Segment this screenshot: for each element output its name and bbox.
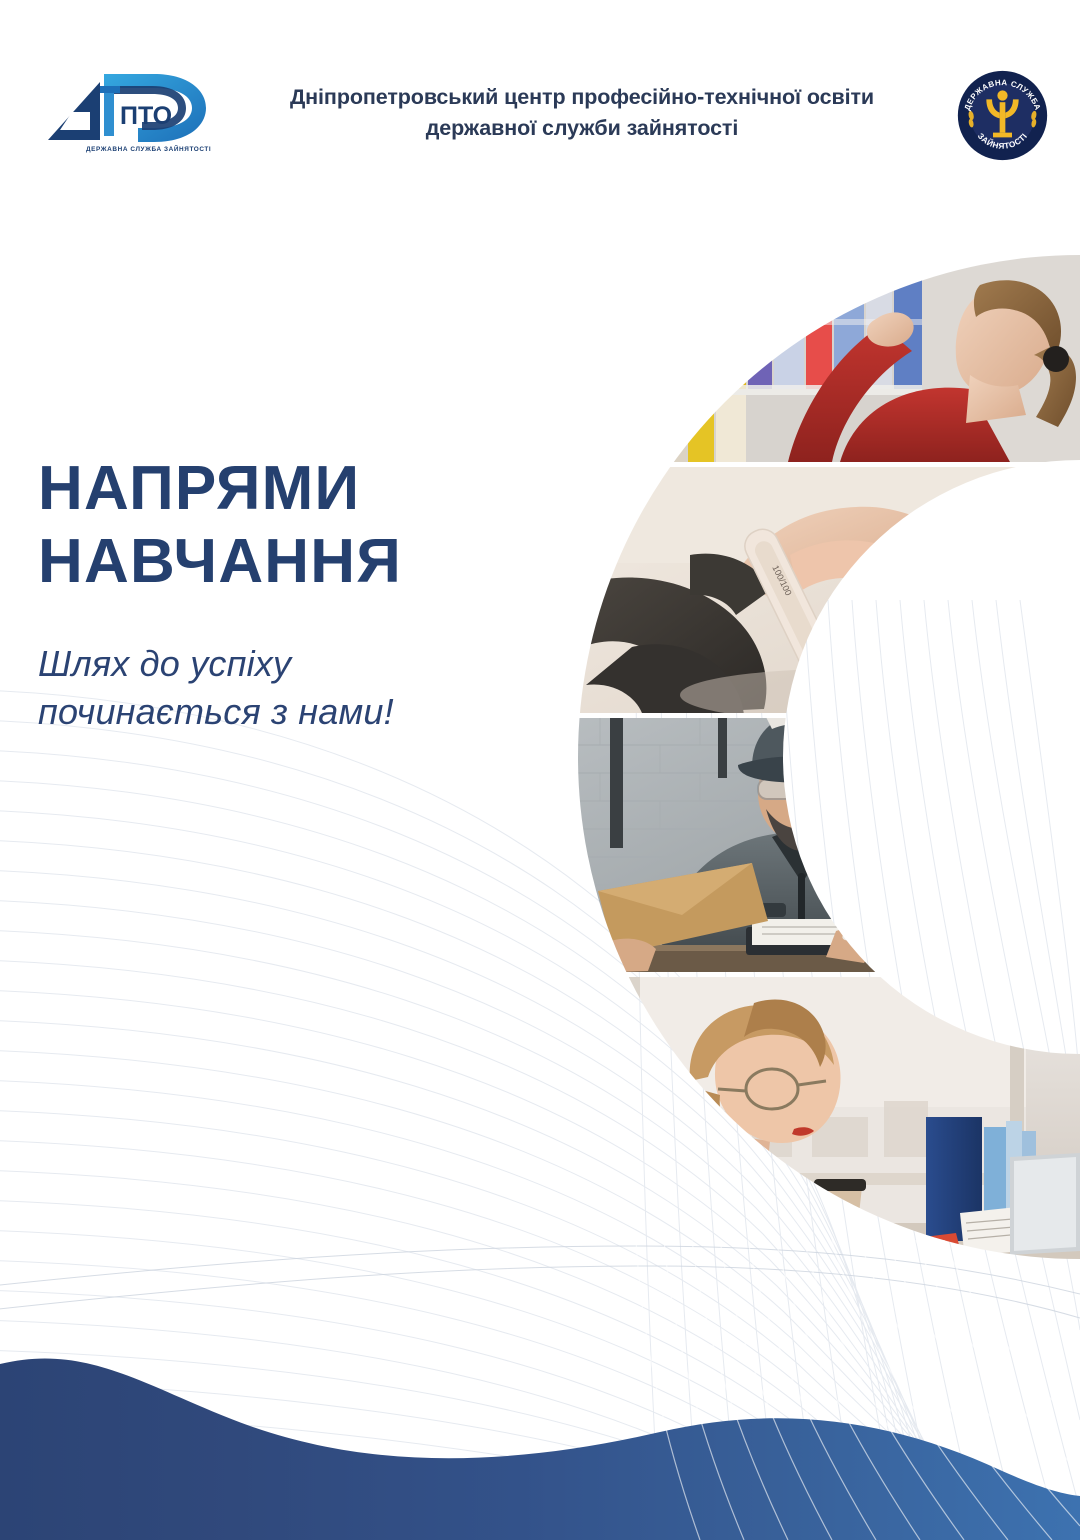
photo-office-woman-laptop	[540, 977, 1080, 1260]
page-subtitle-line-2: починається з нами!	[38, 688, 558, 736]
photo-archivist-binders	[540, 255, 1080, 462]
bottom-wave-decoration	[0, 1320, 1080, 1540]
page-header: ПТО ДЕРЖАВНА СЛУЖБА ЗАЙНЯТОСТІ Дніпропет…	[0, 0, 1080, 190]
hero-block: НАПРЯМИ НАВЧАННЯ Шлях до успіху починаєт…	[38, 452, 558, 736]
photo-collage: Tertio 100/100	[540, 255, 1080, 1260]
organisation-title-line-1: Дніпропетровський центр професійно-техні…	[212, 82, 952, 113]
page-title-line-2: НАВЧАННЯ	[38, 525, 558, 598]
organisation-title-line-2: державної служби зайнятості	[212, 113, 952, 144]
poster-page: ПТО ДЕРЖАВНА СЛУЖБА ЗАЙНЯТОСТІ Дніпропет…	[0, 0, 1080, 1540]
page-subtitle: Шлях до успіху починається з нами!	[38, 640, 558, 736]
organisation-title: Дніпропетровський центр професійно-техні…	[212, 82, 952, 143]
page-title-line-1: НАПРЯМИ	[38, 452, 558, 525]
logo-tagline: ДЕРЖАВНА СЛУЖБА ЗАЙНЯТОСТІ	[86, 144, 211, 153]
state-employment-service-emblem: ДЕРЖАВНА СЛУЖБА ЗАЙНЯТОСТІ	[955, 68, 1050, 163]
photo-manicure-nail-file: Tertio 100/100	[540, 467, 1080, 745]
page-title: НАПРЯМИ НАВЧАННЯ	[38, 452, 558, 598]
logo-acronym: ПТО	[120, 102, 172, 130]
photo-technician-clipboard	[540, 710, 1080, 973]
page-subtitle-line-1: Шлях до успіху	[38, 640, 558, 688]
dpto-logo: ПТО ДЕРЖАВНА СЛУЖБА ЗАЙНЯТОСТІ	[42, 62, 212, 154]
